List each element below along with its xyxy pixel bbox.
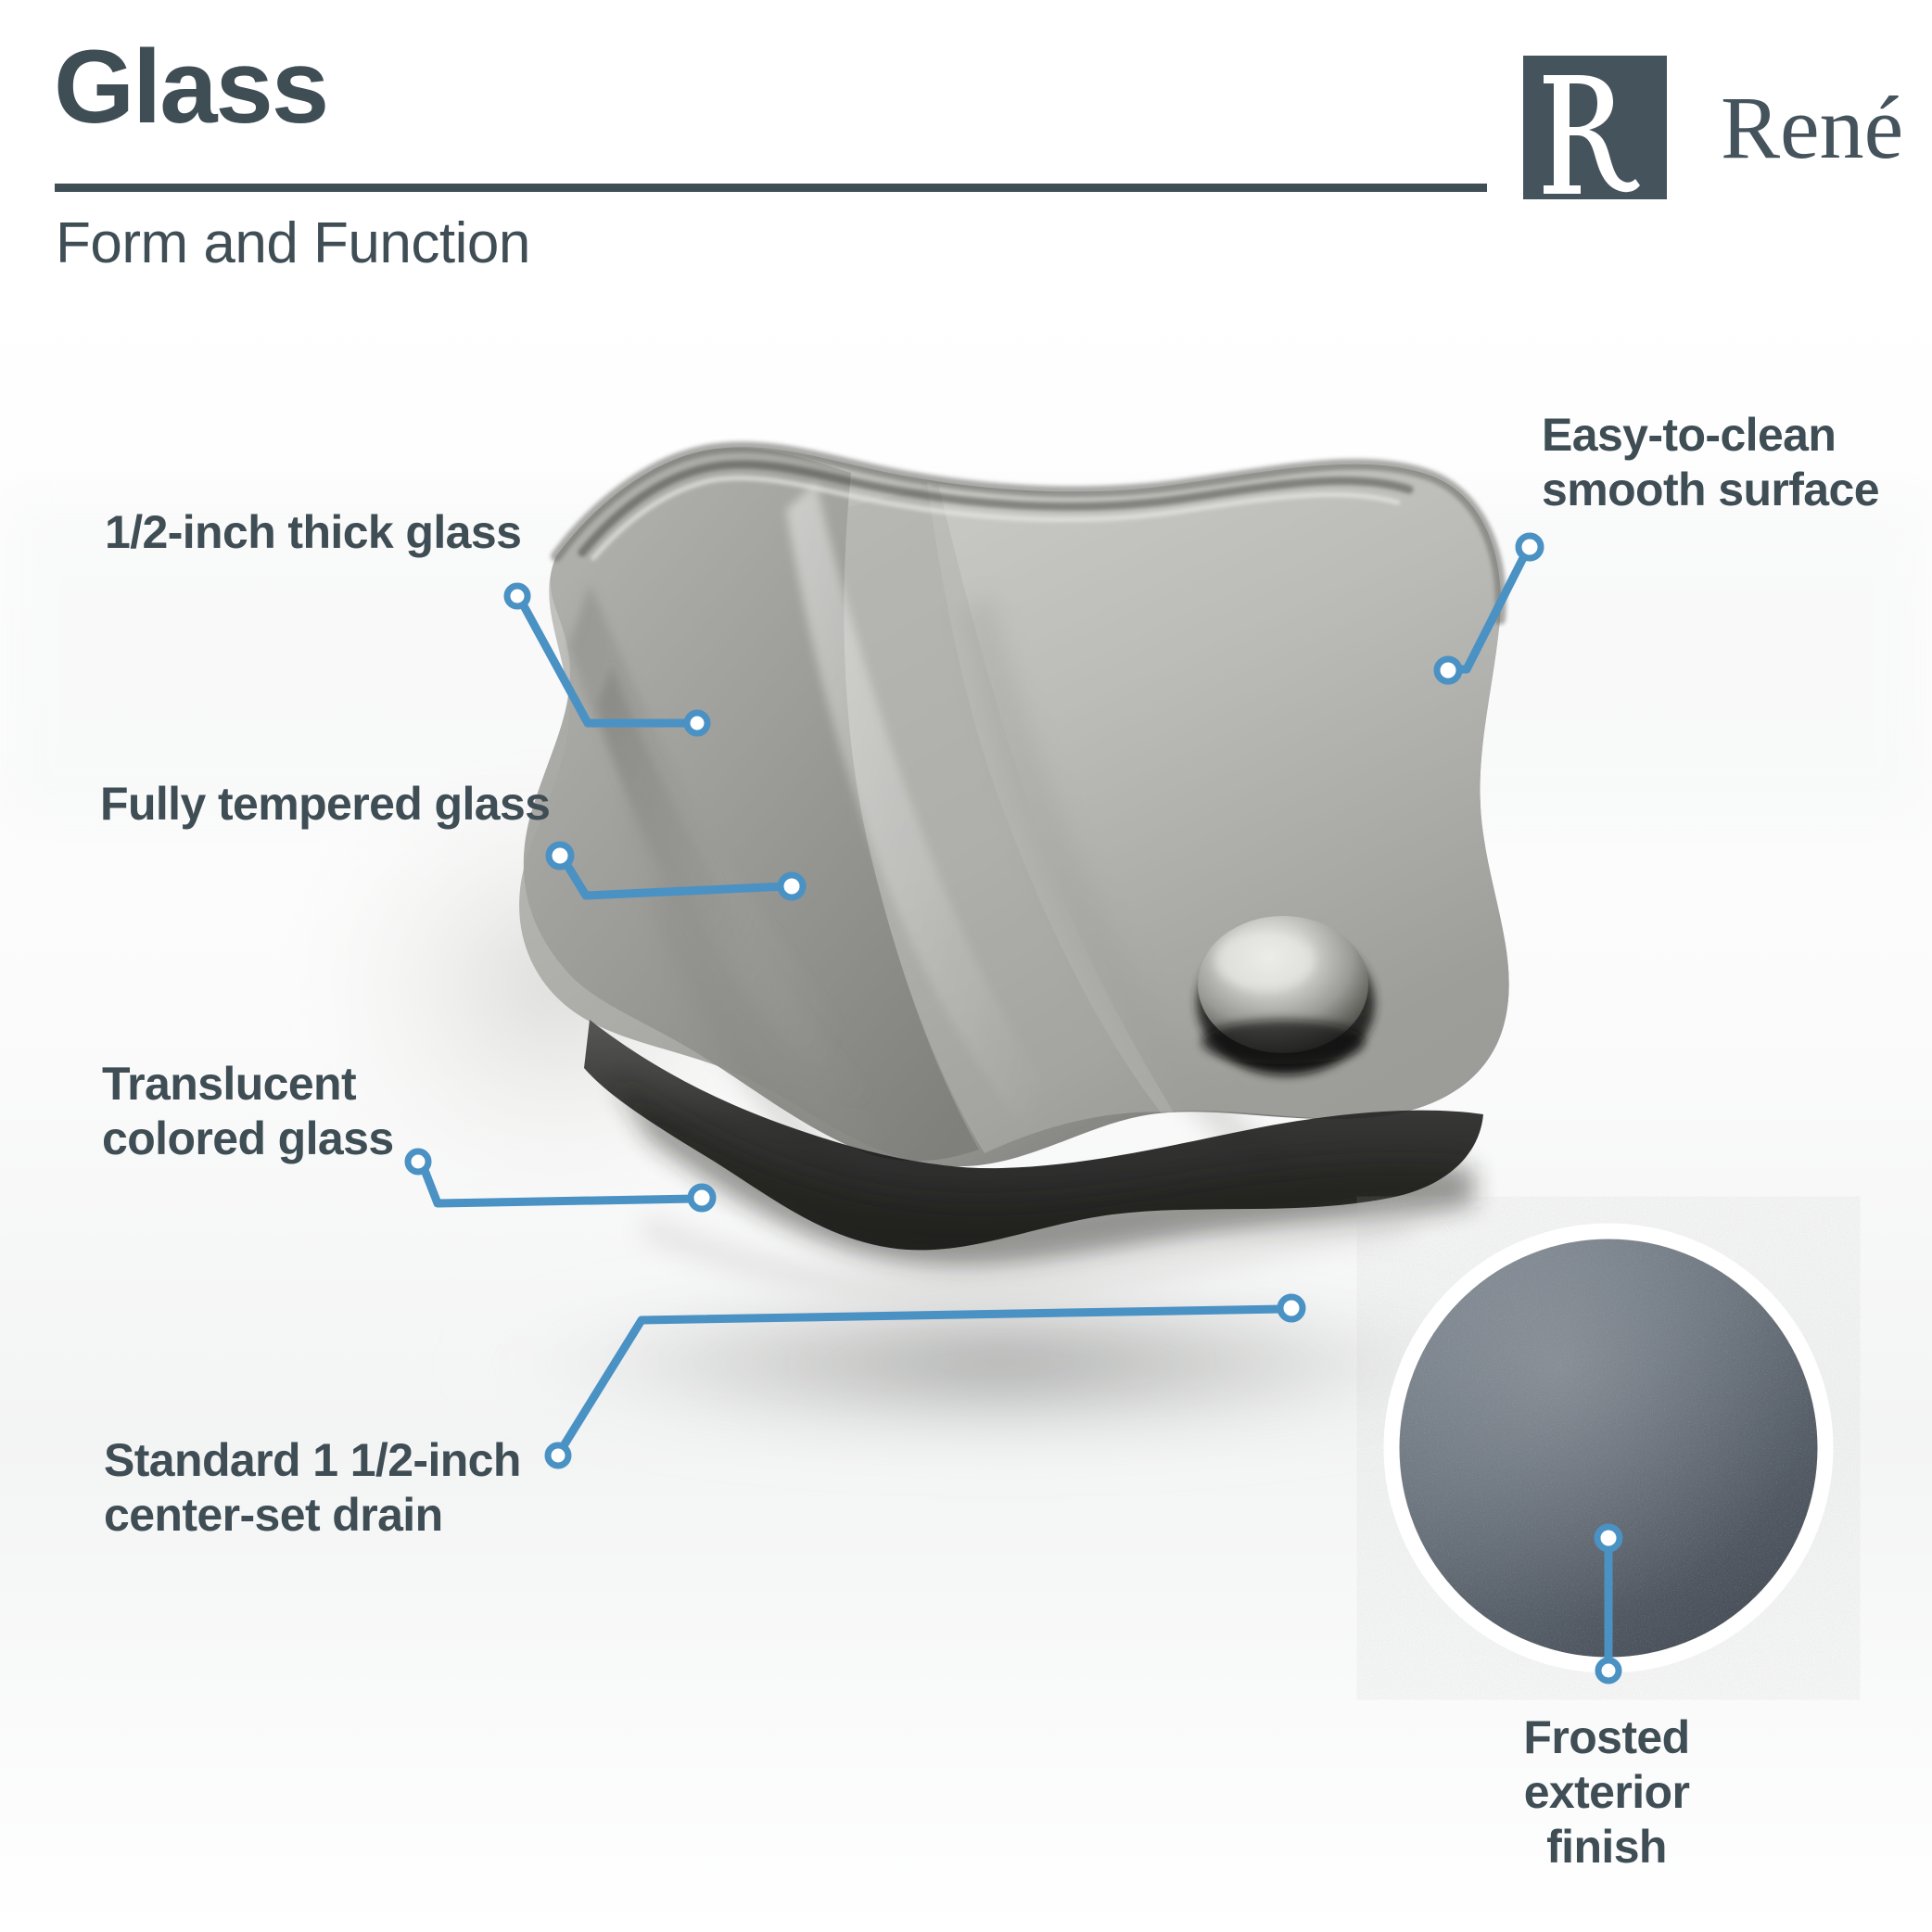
infographic-page: Glass Form and Function René xyxy=(0,0,1932,1932)
callout-label-easy-to-clean: Easy-to-clean smooth surface xyxy=(1542,408,1879,517)
title-divider-rule xyxy=(55,184,1487,192)
brand-mark-r-icon xyxy=(1523,56,1667,199)
callout-label-tempered-glass: Fully tempered glass xyxy=(100,777,550,832)
page-title: Glass xyxy=(54,35,327,139)
callout-label-translucent-colored-glass: Translucent colored glass xyxy=(102,1057,394,1166)
page-subtitle: Form and Function xyxy=(56,215,530,273)
callout-label-center-set-drain: Standard 1 1/2-inch center-set drain xyxy=(104,1433,521,1543)
frosted-detail-inset xyxy=(1384,1224,1833,1672)
page-header: Glass Form and Function René xyxy=(0,0,1932,297)
brand-logo: René xyxy=(1523,56,1903,199)
callout-label-thick-glass: 1/2-inch thick glass xyxy=(105,505,521,560)
brand-wordmark: René xyxy=(1721,83,1903,172)
callout-label-frosted-finish: Frosted exterior finish xyxy=(1440,1710,1773,1875)
